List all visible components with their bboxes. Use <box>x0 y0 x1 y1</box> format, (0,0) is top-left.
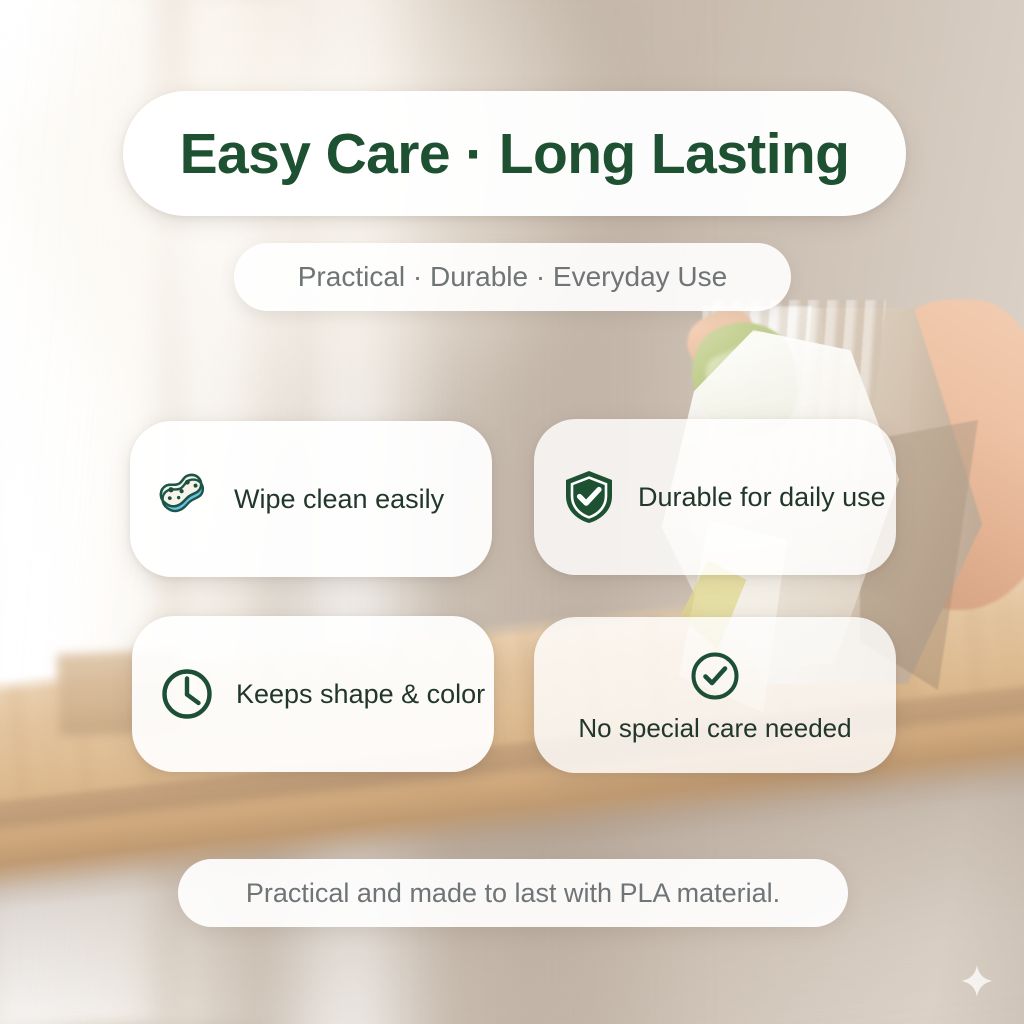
page-title: Easy Care · Long Lasting <box>180 121 850 187</box>
footer-text: Practical and made to last with PLA mate… <box>246 878 780 909</box>
subtitle-pill: Practical · Durable · Everyday Use <box>234 243 791 311</box>
sponge-icon <box>156 470 214 528</box>
circle-check-icon <box>686 647 744 705</box>
feature-card-keeps-shape: Keeps shape & color <box>132 616 494 772</box>
feature-label: Durable for daily use <box>638 482 886 513</box>
title-pill: Easy Care · Long Lasting <box>123 91 906 216</box>
feature-label: No special care needed <box>578 713 851 744</box>
feature-label: Wipe clean easily <box>234 484 444 515</box>
feature-card-no-special-care: No special care needed <box>534 617 896 773</box>
sparkle-icon <box>960 964 994 998</box>
feature-card-wipe-clean: Wipe clean easily <box>130 421 492 577</box>
feature-card-durable: Durable for daily use <box>534 419 896 575</box>
promo-poster: Easy Care · Long Lasting Practical · Dur… <box>0 0 1024 1024</box>
page-subtitle: Practical · Durable · Everyday Use <box>298 261 727 293</box>
feature-label: Keeps shape & color <box>236 679 485 710</box>
shield-check-icon <box>560 468 618 526</box>
clock-icon <box>158 665 216 723</box>
footer-pill: Practical and made to last with PLA mate… <box>178 859 848 927</box>
